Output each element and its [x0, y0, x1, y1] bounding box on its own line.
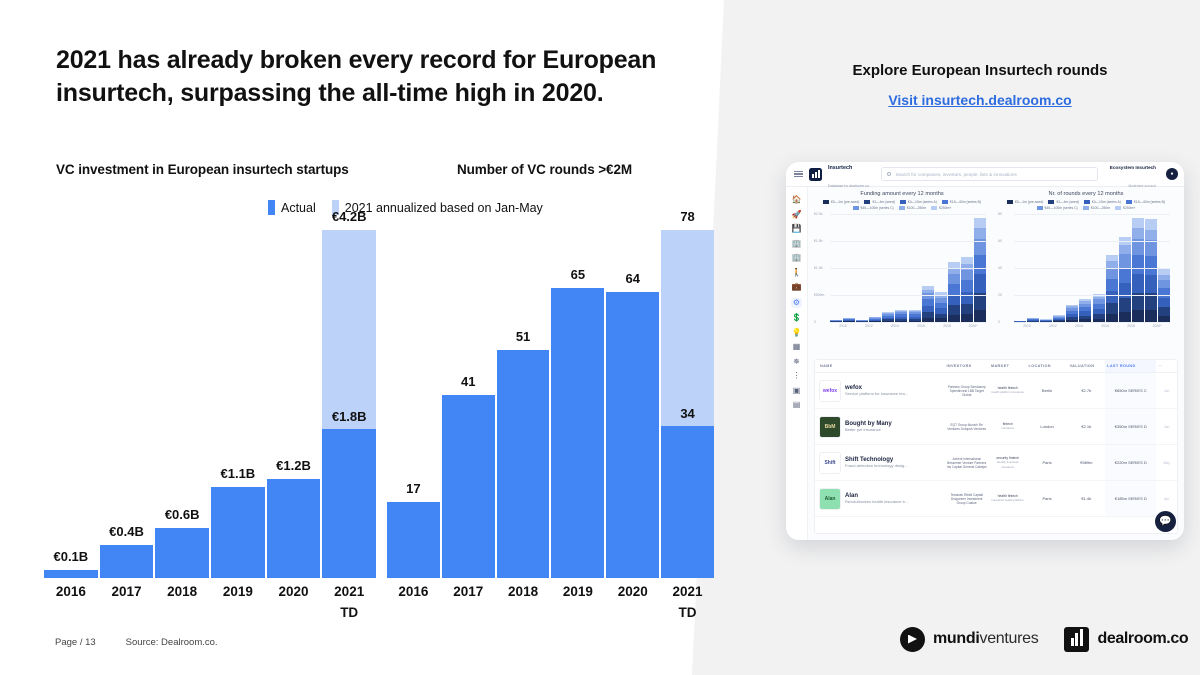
- page-title: 2021 has already broken every record for…: [56, 44, 716, 111]
- dealroom-wordmark: dealroom.co: [1097, 630, 1188, 648]
- chat-bubble-icon[interactable]: 💬: [1155, 511, 1176, 532]
- mini-gridline: €1.0b: [830, 268, 986, 269]
- bar-segment-actual: €1.2B: [267, 479, 321, 578]
- home-icon[interactable]: 🏠: [792, 196, 802, 204]
- cell-investors: Partners Group Seedcamp Speedinvest LBB …: [944, 385, 988, 397]
- cell-valuation: €2.1b: [1068, 424, 1106, 429]
- bar-segment-actual: 51: [497, 350, 550, 578]
- mini-legend-label: €4—15m (series A): [1092, 200, 1121, 204]
- bar-segment-actual: 64: [606, 292, 659, 578]
- bar-segment-actual: €0.4B: [100, 545, 154, 578]
- mini-chart-title: Nr. of rounds every 12 months: [998, 191, 1174, 197]
- mockup-body: Funding amount every 12 months €0—1m (pr…: [808, 187, 1184, 540]
- bar-value-label: 64: [606, 271, 659, 286]
- bar-segment-actual: €1.1B: [211, 487, 265, 578]
- transactions-icon[interactable]: 💲: [792, 314, 802, 322]
- cell-last-round: €350m SERIES D: [1105, 409, 1156, 444]
- bar-value-label: 34: [661, 406, 714, 421]
- mini-chart-rounds: Nr. of rounds every 12 months €0—1m (pre…: [998, 191, 1174, 351]
- company-desc: Better pet insurance: [845, 427, 881, 432]
- mockup-topbar: Insurtech Database by dealroom.co Search…: [786, 162, 1184, 187]
- save-icon[interactable]: 💾: [792, 225, 802, 233]
- right-panel-title: Explore European Insurtech rounds: [760, 62, 1200, 79]
- mini-gridline: €2.0b: [830, 214, 986, 215]
- mini-bar: [935, 292, 947, 322]
- bar-segment-actual: 34: [661, 426, 714, 578]
- company-logo-icon: Alan: [819, 488, 841, 510]
- mini-legend-label: €4—15m (series A): [908, 200, 937, 204]
- cell-last-round: €650m SERIES C: [1105, 373, 1156, 408]
- col-last-round[interactable]: LAST ROUND: [1105, 360, 1156, 372]
- briefcase-icon[interactable]: 💼: [792, 283, 802, 291]
- slide-canvas: 2021 has already broken every record for…: [0, 0, 1200, 675]
- mini-legend-label: €0—1m (pre-seed): [1015, 200, 1043, 204]
- image-icon[interactable]: ▣: [793, 387, 801, 395]
- bar-column: 65: [551, 230, 604, 578]
- mini-y-tick: €1.5b: [814, 239, 823, 243]
- bar-column: €0.4B: [100, 230, 154, 578]
- list-icon[interactable]: ▤: [793, 401, 801, 409]
- ecosystem-icon[interactable]: ⚙: [791, 298, 802, 308]
- cell-name[interactable]: ShiftShift TechnologyFraud-detection tec…: [815, 452, 944, 474]
- bar-value-label: €1.8B: [322, 409, 376, 424]
- mini-legend-label: €0—1m (pre-seed): [831, 200, 859, 204]
- x-axis-tick: 2021TD: [661, 582, 714, 624]
- company-logo-icon: BbM: [819, 416, 841, 438]
- innovation-icon[interactable]: 💡: [792, 329, 802, 337]
- cell-name[interactable]: AlanAlanRevolutionizes health insurance …: [815, 488, 944, 510]
- mini-y-tick: 60: [998, 239, 1002, 243]
- chart-legend: Actual 2021 annualized based on Jan-May: [268, 200, 543, 215]
- hamburger-icon[interactable]: [794, 171, 803, 178]
- mini-bar: [895, 310, 907, 322]
- mini-legend-item: €1—4m (seed): [864, 200, 894, 204]
- mini-legend-item: €250m+: [931, 206, 951, 210]
- table-row[interactable]: AlanAlanRevolutionizes health insurance …: [815, 481, 1177, 517]
- company-logo-icon: wefox: [819, 380, 841, 402]
- mini-y-tick: €500m: [814, 293, 824, 297]
- cell-investors: EQT Group Munich Re Ventures Octopus Ven…: [944, 423, 988, 431]
- cell-location: Berlin: [1027, 388, 1068, 393]
- company-desc: Revolutionizes health insurance b...: [845, 499, 908, 504]
- x-axis-tick: 2016: [387, 582, 440, 624]
- bar-value-label: 51: [497, 329, 550, 344]
- mini-y-tick: €2.0b: [814, 212, 823, 216]
- mini-chart-plot: €2.0b€1.5b€1.0b€500m0: [830, 214, 986, 322]
- mini-gridline: €500m: [830, 295, 986, 296]
- bar-column: €1.2B: [267, 230, 321, 578]
- mini-legend-item: €250m+: [1115, 206, 1135, 210]
- mini-legend-label: €100—250m: [1091, 206, 1110, 210]
- mini-y-tick: 80: [998, 212, 1002, 216]
- cell-location: Paris: [1027, 496, 1068, 501]
- company-desc: Service platform for insurance bro...: [845, 391, 908, 396]
- mini-x-tick: 2012: [856, 324, 882, 328]
- mini-bar: [1093, 294, 1105, 322]
- mini-legend-label: €40—100m (series C): [1045, 206, 1078, 210]
- bar-value-label: €4.2B: [322, 209, 376, 224]
- mini-bar: [1079, 299, 1091, 322]
- cell-location: London: [1027, 424, 1068, 429]
- mini-legend-item: €15—40m (series B): [1126, 200, 1165, 204]
- cell-investors: Advent International Bessemer Venture Pa…: [944, 457, 988, 469]
- bar-segment-actual: €0.6B: [155, 528, 209, 578]
- cell-join[interactable]: Apr: [1156, 497, 1177, 501]
- bar-segment-actual: 41: [442, 395, 495, 578]
- bar-column: 64: [606, 230, 659, 578]
- mini-legend-label: €1—4m (seed): [872, 200, 894, 204]
- company-logo-icon: Shift: [819, 452, 841, 474]
- cell-last-round: €185m SERIES D: [1105, 481, 1156, 516]
- bar-column: 17: [387, 230, 440, 578]
- bar-chart-rounds: 17415165647834 201620172018201920202021T…: [383, 230, 718, 578]
- cell-name[interactable]: BbMBought by ManyBetter pet insurance: [815, 416, 944, 438]
- mini-gridline: 60: [1014, 241, 1170, 242]
- bar-segment-actual: €1.8B: [322, 429, 376, 578]
- bar-value-label: 41: [442, 374, 495, 389]
- mini-x-tick: 2010: [1014, 324, 1040, 328]
- x-axis-tick: 2018: [497, 582, 550, 624]
- mini-x-tick: 2014: [882, 324, 908, 328]
- bar-segment-actual: €0.1B: [44, 570, 98, 578]
- bar-value-label: €0.6B: [155, 507, 209, 522]
- x-axis-tick: 2016: [44, 582, 98, 624]
- bar-segment-projected: €4.2B: [322, 230, 376, 429]
- dealroom-mark-icon: [1064, 627, 1089, 652]
- bar-segment-actual: 65: [551, 288, 604, 578]
- mini-bar: [922, 286, 934, 322]
- mini-chart-xaxis: 201020122014201620182020*: [1014, 324, 1170, 328]
- dealroom-logo-icon: [809, 168, 822, 181]
- col-more[interactable]: ⋯: [1156, 364, 1177, 368]
- mockup-sidebar: 🏠 🚀 💾 🏢 🏢 🚶 💼 ⚙ 💲 💡 ▦ ✵ ⋮ ▣ ▤: [786, 187, 808, 540]
- footer-logos: mundiventures dealroom.co: [900, 622, 1170, 656]
- table-row[interactable]: wefoxwefoxService platform for insurance…: [815, 373, 1177, 409]
- chart-xaxis: 201620172018201920202021TD: [383, 582, 718, 624]
- table-row[interactable]: ShiftShift TechnologyFraud-detection tec…: [815, 445, 1177, 481]
- mini-y-tick: €1.0b: [814, 266, 823, 270]
- search-input[interactable]: Search for companies, investors, people,…: [881, 167, 1098, 181]
- mini-chart-xaxis: 201020122014201620182020*: [830, 324, 986, 328]
- cell-location: Paris: [1027, 460, 1068, 465]
- cell-market: fintechinsurance: [989, 422, 1027, 431]
- mini-legend-item: €4—15m (series A): [1084, 200, 1121, 204]
- mini-chart-legend: €0—1m (pre-seed)€1—4m (seed)€4—15m (seri…: [998, 200, 1174, 210]
- dashboard-mockup[interactable]: Insurtech Database by dealroom.co Search…: [786, 162, 1184, 540]
- x-axis-tick: 2020: [267, 582, 321, 624]
- bar-column: 41: [442, 230, 495, 578]
- source-note: Source: Dealroom.co.: [126, 637, 218, 648]
- mini-legend-item: €100—250m: [1083, 206, 1110, 210]
- cell-join[interactable]: May: [1156, 461, 1177, 465]
- x-axis-tick: 2020: [606, 582, 659, 624]
- mini-y-tick: 40: [998, 266, 1002, 270]
- mini-bar: [1119, 237, 1131, 322]
- mini-x-tick: 2020*: [960, 324, 986, 328]
- mini-chart-legend: €0—1m (pre-seed)€1—4m (seed)€4—15m (seri…: [814, 200, 990, 210]
- mini-gridline: 80: [1014, 214, 1170, 215]
- mini-legend-label: €100—250m: [907, 206, 926, 210]
- mini-x-tick: 2018: [934, 324, 960, 328]
- cell-valuation: €2.7b: [1068, 388, 1106, 393]
- mini-chart-title: Funding amount every 12 months: [814, 191, 990, 197]
- mini-bar: [882, 312, 894, 322]
- mini-x-tick: 2012: [1040, 324, 1066, 328]
- mini-bar: [961, 257, 973, 322]
- avatar[interactable]: ●: [1166, 168, 1178, 180]
- mini-bar: [1106, 255, 1118, 322]
- col-valuation[interactable]: VALUATION: [1068, 364, 1106, 368]
- bar-value-label: 65: [551, 267, 604, 282]
- drag-icon[interactable]: ⋮: [793, 372, 801, 380]
- bar-segment-projected: 78: [661, 230, 714, 426]
- mini-legend-item: €40—100m (series C): [1037, 206, 1078, 210]
- insurtech-dealroom-link[interactable]: Visit insurtech.dealroom.co: [760, 92, 1200, 108]
- mini-legend-item: €4—15m (series A): [900, 200, 937, 204]
- mini-legend-label: €250m+: [1123, 206, 1135, 210]
- mini-bar: [1066, 305, 1078, 323]
- chart-title-investment: VC investment in European insurtech star…: [56, 162, 349, 177]
- bar-value-label: €1.1B: [211, 466, 265, 481]
- table-row[interactable]: BbMBought by ManyBetter pet insuranceEQT…: [815, 409, 1177, 445]
- mini-bar: [948, 262, 960, 322]
- people-icon[interactable]: 🚶: [792, 269, 802, 277]
- col-market[interactable]: MARKET: [989, 364, 1027, 368]
- mini-legend-label: €15—40m (series B): [1134, 200, 1165, 204]
- mini-x-tick: 2014: [1066, 324, 1092, 328]
- brand-name: Insurtech: [828, 165, 852, 171]
- mini-chart-funding: Funding amount every 12 months €0—1m (pr…: [814, 191, 990, 351]
- x-axis-tick: 2019: [551, 582, 604, 624]
- mini-chart-plot: 806040200: [1014, 214, 1170, 322]
- chart-xaxis: 201620172018201920202021TD: [40, 582, 380, 624]
- companies-table: NAME INVESTORS MARKET LOCATION VALUATION…: [814, 359, 1178, 534]
- mini-bar: [1053, 315, 1065, 322]
- dealroom-logo: dealroom.co: [1064, 627, 1188, 652]
- cell-valuation: €989m: [1068, 460, 1106, 465]
- chart-bars: 17415165647834: [383, 230, 718, 578]
- cell-investors: Temasek Ribbit Capital Dragoneer Investm…: [944, 493, 988, 505]
- mini-bar: [974, 218, 986, 322]
- mini-x-tick: 2016: [1092, 324, 1118, 328]
- chart-title-rounds: Number of VC rounds >€2M: [457, 162, 632, 177]
- bar-chart-investment: €0.1B€0.4B€0.6B€1.1B€1.2B€4.2B€1.8B 2016…: [40, 230, 380, 578]
- mini-gridline: 40: [1014, 268, 1170, 269]
- mundi-mark-icon: [900, 627, 925, 652]
- x-axis-tick: 2017: [442, 582, 495, 624]
- mini-legend-label: €15—40m (series B): [950, 200, 981, 204]
- mini-legend-item: €1—4m (seed): [1048, 200, 1078, 204]
- mundi-wordmark: mundiventures: [933, 630, 1038, 648]
- account-name: Ecosystem Insurtech: [1110, 165, 1156, 170]
- bar-column: €4.2B€1.8B: [322, 230, 376, 578]
- mini-legend-label: €1—4m (seed): [1056, 200, 1078, 204]
- company-desc: Fraud-detection technology desig...: [845, 463, 907, 468]
- bar-column: €0.1B: [44, 230, 98, 578]
- bar-value-label: 78: [661, 209, 714, 224]
- bar-value-label: €0.1B: [44, 549, 98, 564]
- x-axis-tick: 2019: [211, 582, 265, 624]
- cell-market: security fintechidentity & access insura…: [989, 456, 1027, 470]
- search-icon: [887, 172, 892, 177]
- table-header: NAME INVESTORS MARKET LOCATION VALUATION…: [815, 360, 1177, 373]
- mundi-bold: mundi: [933, 630, 980, 647]
- mini-x-tick: 2020*: [1144, 324, 1170, 328]
- network-icon[interactable]: ✵: [793, 358, 800, 366]
- rocket-icon[interactable]: 🚀: [792, 211, 802, 219]
- mini-bar: [909, 310, 921, 322]
- mini-gridline: €1.5b: [830, 241, 986, 242]
- mini-gridline: 0: [1014, 322, 1170, 323]
- col-location[interactable]: LOCATION: [1027, 364, 1068, 368]
- mini-x-tick: 2010: [830, 324, 856, 328]
- cell-valuation: €1.4b: [1068, 496, 1106, 501]
- bar-column: €0.6B: [155, 230, 209, 578]
- col-investors[interactable]: INVESTORS: [945, 364, 989, 368]
- cell-last-round: €220m SERIES D: [1105, 445, 1156, 480]
- mini-bar: [1132, 218, 1144, 322]
- cell-join[interactable]: Jun: [1156, 389, 1177, 393]
- legend-label-actual: Actual: [281, 201, 316, 215]
- mini-gridline: 20: [1014, 295, 1170, 296]
- bar-column: 51: [497, 230, 550, 578]
- mini-legend-item: €15—40m (series B): [942, 200, 981, 204]
- mini-y-tick: 0: [814, 320, 816, 324]
- mini-legend-label: €250m+: [939, 206, 951, 210]
- mini-y-tick: 0: [998, 320, 1000, 324]
- mini-legend-label: €40—100m (series C): [861, 206, 894, 210]
- bar-value-label: 17: [387, 481, 440, 496]
- cell-join[interactable]: Jun: [1156, 425, 1177, 429]
- bar-column: 7834: [661, 230, 714, 578]
- mini-y-tick: 20: [998, 293, 1002, 297]
- table-body: wefoxwefoxService platform for insurance…: [815, 373, 1177, 517]
- footer-left: Page / 13 Source: Dealroom.co.: [55, 637, 218, 648]
- mini-bar: [1145, 219, 1157, 322]
- legend-item-actual: Actual: [268, 200, 316, 215]
- chart-bars: €0.1B€0.4B€0.6B€1.1B€1.2B€4.2B€1.8B: [40, 230, 380, 578]
- cell-market: health fintechinsurance health platform: [989, 494, 1027, 503]
- bar-value-label: €1.2B: [267, 458, 321, 473]
- page-number: Page / 13: [55, 637, 96, 648]
- mini-x-tick: 2018: [1118, 324, 1144, 328]
- cell-name[interactable]: wefoxwefoxService platform for insurance…: [815, 380, 944, 402]
- bar-value-label: €0.4B: [100, 524, 154, 539]
- grid-icon[interactable]: ▦: [793, 343, 801, 351]
- mundi-rest: ventures: [980, 630, 1039, 647]
- x-axis-tick: 2021TD: [322, 582, 376, 624]
- mini-x-tick: 2016: [908, 324, 934, 328]
- company-icon[interactable]: 🏢: [792, 240, 802, 248]
- mini-gridline: 0: [830, 322, 986, 323]
- corporate-icon[interactable]: 🏢: [792, 254, 802, 262]
- search-placeholder: Search for companies, investors, people,…: [895, 172, 1016, 177]
- legend-swatch-actual: [268, 200, 275, 215]
- bar-segment-actual: 17: [387, 502, 440, 578]
- bar-column: €1.1B: [211, 230, 265, 578]
- col-name[interactable]: NAME: [815, 364, 945, 368]
- x-axis-tick: 2018: [155, 582, 209, 624]
- mini-legend-item: €0—1m (pre-seed): [823, 200, 859, 204]
- mini-legend-item: €0—1m (pre-seed): [1007, 200, 1043, 204]
- mini-legend-item: €100—250m: [899, 206, 926, 210]
- mundiventures-logo: mundiventures: [900, 627, 1038, 652]
- x-axis-tick: 2017: [100, 582, 154, 624]
- cell-market: health fintechhealth platform insurance: [989, 386, 1027, 395]
- mini-legend-item: €40—100m (series C): [853, 206, 894, 210]
